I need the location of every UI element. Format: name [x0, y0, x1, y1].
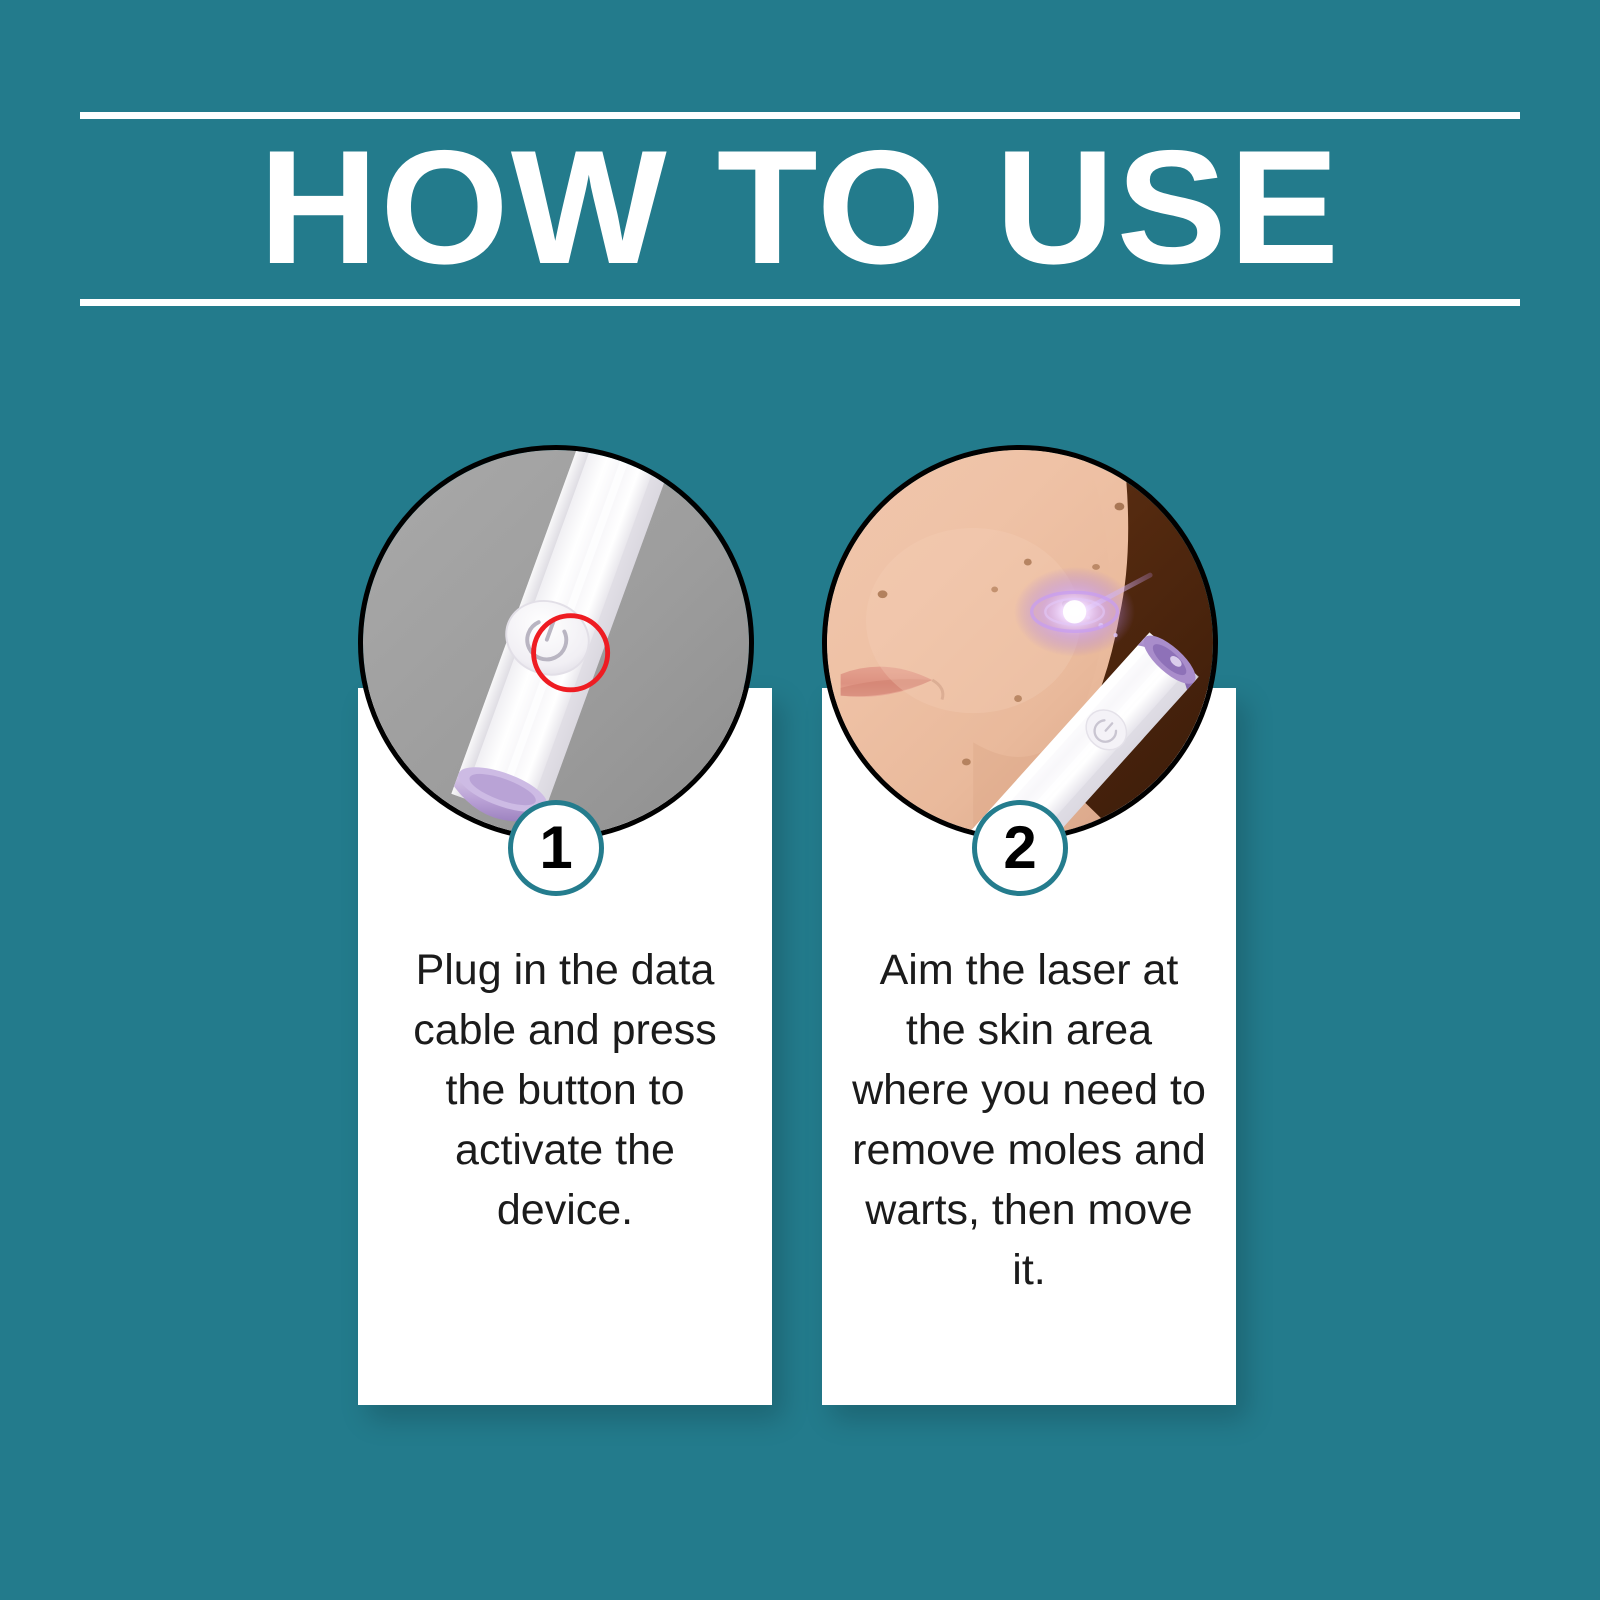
step-caption-1: Plug in the data cable and press the but…: [386, 940, 744, 1240]
title-block: HOW TO USE: [80, 112, 1520, 306]
step-number-1: 1: [539, 818, 572, 878]
step-number-badge-2: 2: [972, 800, 1068, 896]
title-rule-bottom: [80, 299, 1520, 306]
device-power-button-photo: [358, 445, 754, 841]
laser-on-skin-photo: [822, 445, 1218, 841]
step-number-2: 2: [1003, 818, 1036, 878]
how-to-use-infographic: HOW TO USE Plug in the data cable and pr…: [0, 0, 1600, 1600]
page-title: HOW TO USE: [66, 119, 1535, 299]
step-caption-2: Aim the laser at the skin area where you…: [850, 940, 1208, 1300]
step-number-badge-1: 1: [508, 800, 604, 896]
steps-container: Plug in the data cable and press the but…: [0, 445, 1600, 1445]
